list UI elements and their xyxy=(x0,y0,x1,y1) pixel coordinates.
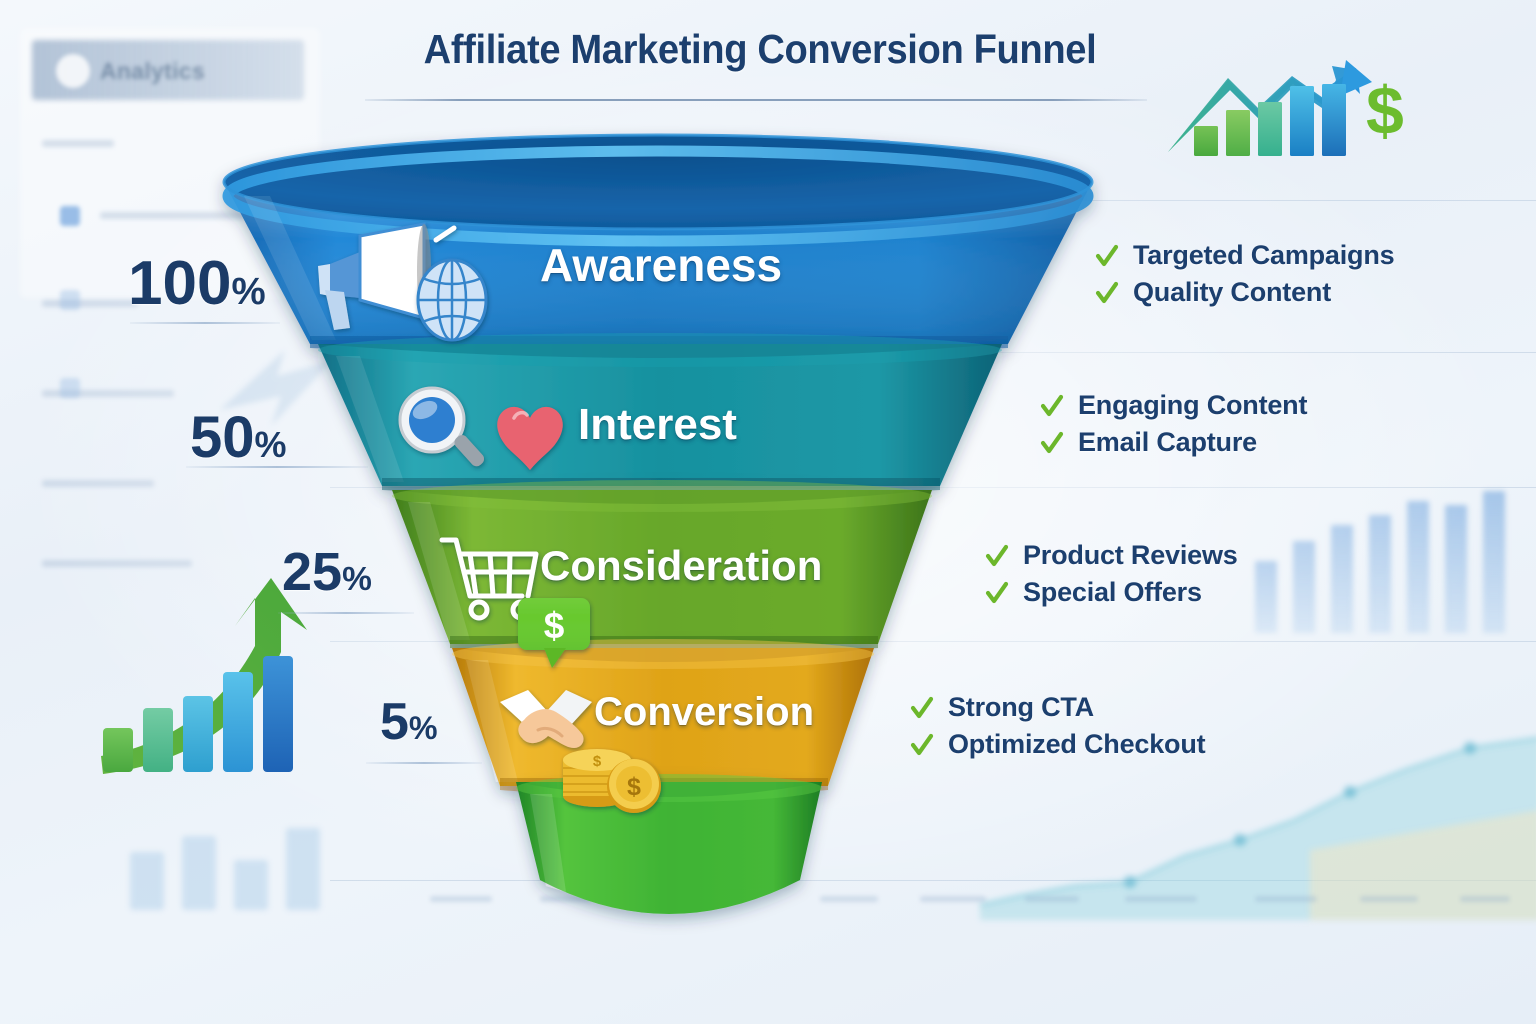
funnel-label-conversion: Conversion xyxy=(594,690,814,735)
benefit-group-conversion: Strong CTA Optimized Checkout xyxy=(910,692,1205,766)
benefit-label: Strong CTA xyxy=(948,692,1094,723)
check-icon xyxy=(1095,280,1119,306)
check-icon xyxy=(910,695,934,721)
benefit-item[interactable]: Strong CTA xyxy=(910,692,1205,723)
benefit-label: Quality Content xyxy=(1133,277,1331,308)
benefit-item[interactable]: Engaging Content xyxy=(1040,390,1307,421)
check-icon xyxy=(1095,243,1119,269)
benefit-group-consideration: Product Reviews Special Offers xyxy=(985,540,1238,614)
check-icon xyxy=(910,732,934,758)
globe-icon xyxy=(418,260,486,340)
svg-text:$: $ xyxy=(544,605,565,646)
benefit-label: Optimized Checkout xyxy=(948,729,1205,760)
svg-text:$: $ xyxy=(627,773,641,801)
funnel-label-consideration: Consideration xyxy=(540,542,822,590)
benefit-group-interest: Engaging Content Email Capture xyxy=(1040,390,1307,464)
benefit-item[interactable]: Product Reviews xyxy=(985,540,1238,571)
benefit-item[interactable]: Optimized Checkout xyxy=(910,729,1205,760)
conversion-funnel-diagram: $ $ $ xyxy=(0,0,1536,1024)
benefit-item[interactable]: Quality Content xyxy=(1095,277,1394,308)
benefit-item[interactable]: Email Capture xyxy=(1040,427,1307,458)
check-icon xyxy=(1040,430,1064,456)
check-icon xyxy=(985,580,1009,606)
funnel-label-awareness: Awareness xyxy=(540,238,782,292)
funnel-label-interest: Interest xyxy=(578,400,737,450)
benefit-label: Engaging Content xyxy=(1078,390,1307,421)
benefit-label: Targeted Campaigns xyxy=(1133,240,1394,271)
benefit-label: Special Offers xyxy=(1023,577,1202,608)
check-icon xyxy=(985,543,1009,569)
check-icon xyxy=(1040,393,1064,419)
benefit-label: Email Capture xyxy=(1078,427,1257,458)
funnel-base-spout[interactable] xyxy=(516,774,822,914)
benefit-label: Product Reviews xyxy=(1023,540,1238,571)
benefit-item[interactable]: Targeted Campaigns xyxy=(1095,240,1394,271)
benefit-group-awareness: Targeted Campaigns Quality Content xyxy=(1095,240,1394,314)
svg-text:$: $ xyxy=(593,753,602,770)
benefit-item[interactable]: Special Offers xyxy=(985,577,1238,608)
